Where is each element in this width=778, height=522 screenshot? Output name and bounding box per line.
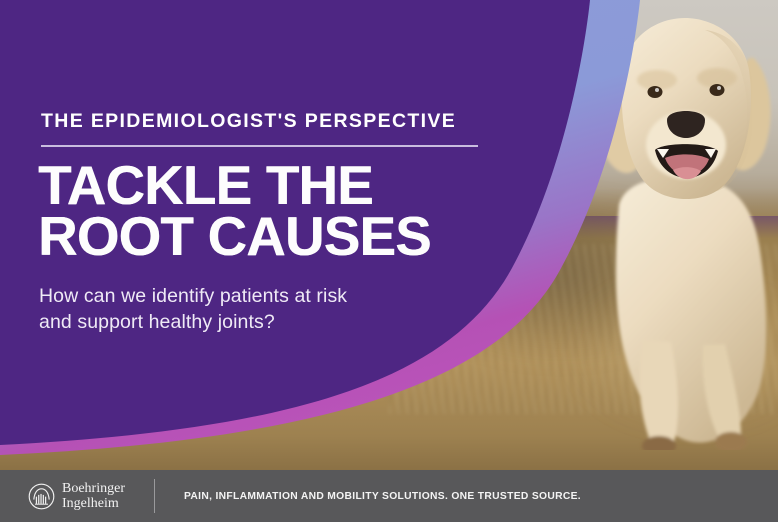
divider-rule	[41, 145, 478, 147]
brand-wordmark: Boehringer Ingelheim	[62, 481, 125, 511]
page-title: TACKLE THE ROOT CAUSES	[38, 160, 431, 262]
brand-line-1: Boehringer	[62, 481, 125, 496]
subheadline-line-2: and support healthy joints?	[39, 310, 347, 336]
subheadline: How can we identify patients at risk and…	[39, 284, 347, 335]
marketing-slide: THE EPIDEMIOLOGIST'S PERSPECTIVE TACKLE …	[0, 0, 778, 522]
slide-content: THE EPIDEMIOLOGIST'S PERSPECTIVE TACKLE …	[0, 0, 520, 470]
footer-bar: Boehringer Ingelheim PAIN, INFLAMMATION …	[0, 470, 778, 522]
headline-line-2: ROOT CAUSES	[38, 211, 431, 262]
footer-tagline: PAIN, INFLAMMATION AND MOBILITY SOLUTION…	[184, 491, 581, 502]
brand-logo: Boehringer Ingelheim	[28, 481, 125, 511]
subheadline-line-1: How can we identify patients at risk	[39, 285, 347, 307]
eyebrow-text: THE EPIDEMIOLOGIST'S PERSPECTIVE	[41, 110, 456, 133]
brand-line-2: Ingelheim	[62, 496, 125, 511]
footer-divider	[154, 479, 155, 513]
boehringer-ingelheim-mark-icon	[28, 483, 55, 510]
